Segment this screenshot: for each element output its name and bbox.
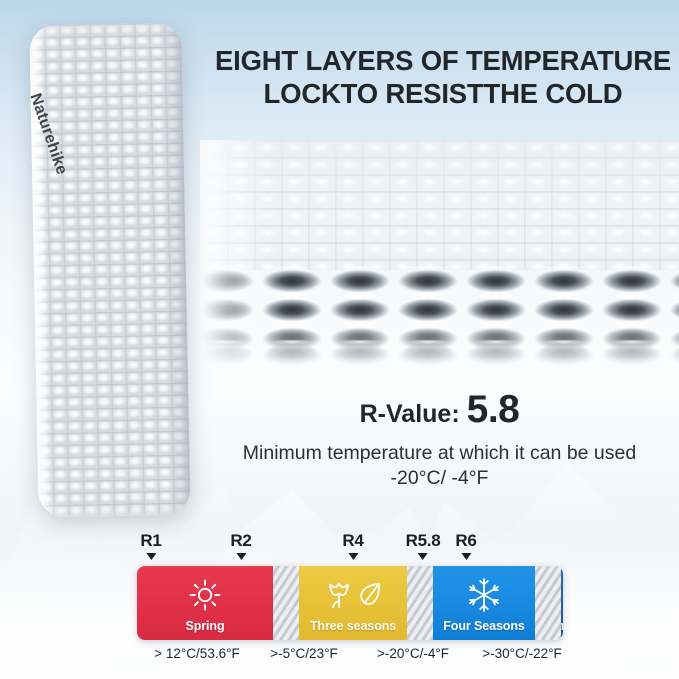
marker-triangle-icon [348, 553, 358, 560]
scale-segment-label: Four Seasons [443, 619, 524, 633]
rvalue-label: R-Value: [360, 401, 460, 427]
scale-segment-four-seasons[interactable]: Four Seasons [433, 566, 535, 640]
rvalue-scale-markers: R1R2R4R5.8R6 [0, 532, 679, 568]
scale-segment-spring[interactable]: Spring [137, 566, 273, 640]
scale-segment-extreme-cold[interactable]: ❄ ❄ Extreme Cold [561, 566, 563, 640]
marker-triangle-icon [146, 553, 156, 560]
scale-marker-label: R6 [455, 532, 476, 549]
pad-edge-highlight [29, 23, 190, 518]
rvalue-min-temperature: -20°C/ -4°F [200, 466, 679, 491]
infographic-canvas: Naturehike EIGHT LAYERS OF TEMPERATURE L… [0, 0, 679, 679]
snowflake-icon [433, 575, 535, 615]
scale-marker-r5-8: R5.8 [406, 532, 441, 560]
temperature-range-three-seasons: >-5°C/23°F [270, 646, 337, 661]
scale-segment-label: Spring [186, 619, 225, 633]
rvalue-description-block: Minimum temperature at which it can be u… [200, 441, 679, 492]
page-title: EIGHT LAYERS OF TEMPERATURE LOCKTO RESIS… [214, 44, 672, 111]
scale-divider [407, 566, 433, 640]
illustration-bottom-fade [200, 325, 679, 365]
scale-marker-label: R2 [230, 532, 251, 549]
layer-cross-section-illustration [200, 140, 679, 365]
rvalue-description: Minimum temperature at which it can be u… [200, 441, 679, 466]
scale-marker-r4: R4 [342, 532, 363, 560]
scale-marker-r1: R1 [140, 532, 161, 560]
temperature-range-spring: > 12°C/53.6°F [154, 646, 239, 661]
scale-marker-label: R4 [342, 532, 363, 549]
sun-icon [137, 575, 273, 615]
multi-snowflake-icon: ❄ ❄ [561, 575, 563, 615]
temperature-range-extreme-cold: >-30°C/-22°F [482, 646, 561, 661]
headline-line-2: LOCKTO RESISTTHE COLD [214, 77, 672, 110]
tulip-leaf-icon [299, 575, 407, 615]
scale-segment-three-seasons[interactable]: Three seasons [299, 566, 407, 640]
scale-marker-label: R1 [140, 532, 161, 549]
marker-triangle-icon [461, 553, 471, 560]
scale-divider [273, 566, 299, 640]
rvalue-headline: R-Value: 5.8 [200, 390, 679, 431]
sleeping-pad-product: Naturehike [29, 23, 190, 518]
temperature-range-four-seasons: >-20°C/-4°F [377, 646, 449, 661]
scale-segment-label: Extreme Cold [561, 619, 563, 633]
scale-divider [535, 566, 561, 640]
scale-marker-r2: R2 [230, 532, 251, 560]
dimple-shading-overlay [200, 140, 679, 270]
insulation-wave-layer [200, 266, 679, 296]
marker-triangle-icon [418, 553, 428, 560]
insulation-wave-layer [200, 295, 679, 325]
temperature-range-row: > 12°C/53.6°F>-5°C/23°F>-20°C/-4°F>-30°C… [137, 646, 563, 670]
rvalue-callout: R-Value: 5.8 Minimum temperature at whic… [200, 390, 679, 492]
scale-segment-label: Three seasons [310, 619, 396, 633]
rvalue-number: 5.8 [467, 390, 520, 431]
scale-marker-label: R5.8 [406, 532, 441, 549]
headline-line-1: EIGHT LAYERS OF TEMPERATURE [214, 44, 672, 77]
marker-triangle-icon [236, 553, 246, 560]
scale-marker-r6: R6 [455, 532, 476, 560]
rvalue-scale-bar: Spring Three seasons [137, 566, 563, 640]
